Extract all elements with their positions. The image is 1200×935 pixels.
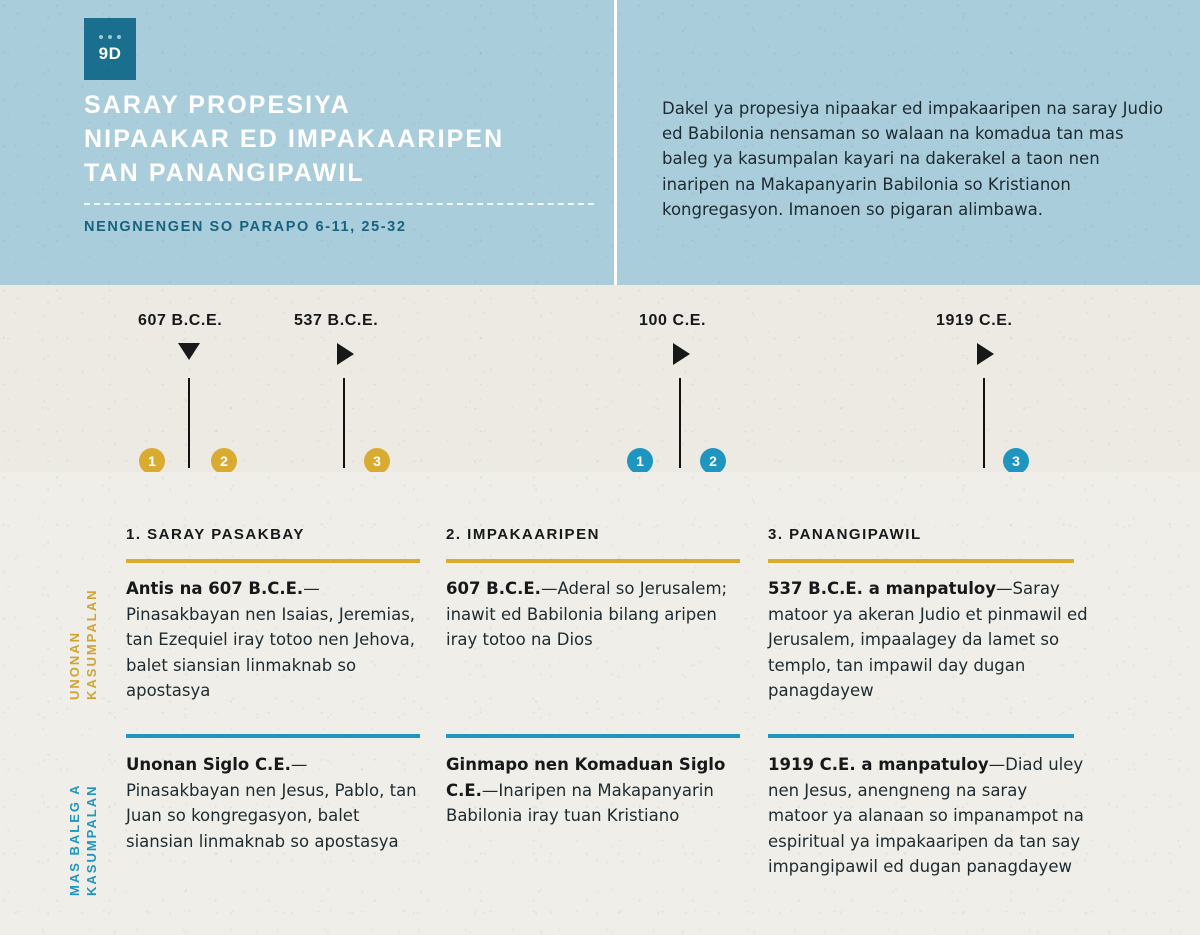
header-divider [614, 0, 617, 285]
timeline-band: 607 B.C.E. 537 B.C.E. 100 C.E. 1919 C.E.… [0, 285, 1200, 472]
intro-paragraph: Dakel ya propesiya nipaakar ed impakaari… [662, 96, 1167, 222]
timeline-tick-100ce [679, 378, 681, 468]
cell-r2c3-lead: 1919 C.E. a manpatuloy [768, 755, 989, 774]
page-title-line-3: TAN PANANGIPAWIL [84, 156, 594, 190]
triangle-down-icon [178, 343, 200, 360]
timeline-badge-blue-3: 3 [1003, 448, 1029, 474]
row-label-unonan-kasumpalan: UNONAN KASUMPALAN [66, 550, 100, 700]
three-dots-icon [99, 35, 121, 39]
timeline-badge-blue-1: 1 [627, 448, 653, 474]
timeline-badge-gold-2: 2 [211, 448, 237, 474]
cell-r2c2-body: —Inaripen na Makapanyarin Babilonia iray… [446, 781, 714, 826]
timeline-badge-blue-2: 2 [700, 448, 726, 474]
cell-r2c1: Unonan Siglo C.E.—Pinasakbayan nen Jesus… [126, 752, 418, 854]
row1-rule-col1 [126, 559, 420, 563]
triangle-right-icon-1919ce [977, 343, 994, 365]
row1-rule-col3 [768, 559, 1074, 563]
timeline-date-label-100ce: 100 C.E. [639, 312, 706, 330]
column-heading-1: 1. SARAY PASAKBAY [126, 526, 305, 543]
column-heading-3: 3. PANANGIPAWIL [768, 526, 922, 543]
cell-r2c1-lead: Unonan Siglo C.E. [126, 755, 291, 774]
row2-rule-col3 [768, 734, 1074, 738]
cell-r1c1-lead: Antis na 607 B.C.E. [126, 579, 303, 598]
lesson-badge: 9D [84, 18, 136, 80]
title-divider [84, 203, 594, 205]
column-heading-2: 2. IMPAKAARIPEN [446, 526, 600, 543]
timeline-date-label-537bce: 537 B.C.E. [294, 312, 378, 330]
timeline-tick-1919ce [983, 378, 985, 468]
timeline-date-label-607bce: 607 B.C.E. [138, 312, 222, 330]
row2-rule-col2 [446, 734, 740, 738]
cell-r1c3: 537 B.C.E. a manpatuloy—Saray matoor ya … [768, 576, 1088, 704]
page-title-line-2: NIPAAKAR ED IMPAKAARIPEN [84, 122, 594, 156]
row1-rule-col2 [446, 559, 740, 563]
page-title-line-1: SARAY PROPESIYA [84, 88, 594, 122]
timeline-tick-537bce [343, 378, 345, 468]
triangle-right-icon-100ce [673, 343, 690, 365]
row2-rule-col1 [126, 734, 420, 738]
content-grid: 1. SARAY PASAKBAY 2. IMPAKAARIPEN 3. PAN… [0, 472, 1200, 935]
triangle-right-icon-537bce [337, 343, 354, 365]
timeline-tick-607bce [188, 378, 190, 468]
cell-r1c2: 607 B.C.E.—Aderal so Jerusalem; inawit e… [446, 576, 736, 653]
timeline-date-label-1919ce: 1919 C.E. [936, 312, 1013, 330]
cell-r2c2: Ginmapo nen Komaduan Siglo C.E.—Inaripen… [446, 752, 738, 829]
cell-r1c2-lead: 607 B.C.E. [446, 579, 541, 598]
cell-r2c3: 1919 C.E. a manpatuloy—Diad uley nen Jes… [768, 752, 1088, 880]
cell-r1c1: Antis na 607 B.C.E.—Pinasakbayan nen Isa… [126, 576, 418, 704]
page-title: SARAY PROPESIYA NIPAAKAR ED IMPAKAARIPEN… [84, 88, 594, 190]
badge-code: 9D [99, 44, 122, 64]
header-panel: 9D SARAY PROPESIYA NIPAAKAR ED IMPAKAARI… [0, 0, 1200, 285]
page-subtitle: NENGNENGEN SO PARAPO 6-11, 25-32 [84, 219, 604, 235]
timeline-badge-gold-3: 3 [364, 448, 390, 474]
cell-r1c3-lead: 537 B.C.E. a manpatuloy [768, 579, 996, 598]
timeline-badge-gold-1: 1 [139, 448, 165, 474]
row-label-mas-baleg-a-kasumpalan: MAS BALEG A KASUMPALAN [66, 728, 100, 896]
